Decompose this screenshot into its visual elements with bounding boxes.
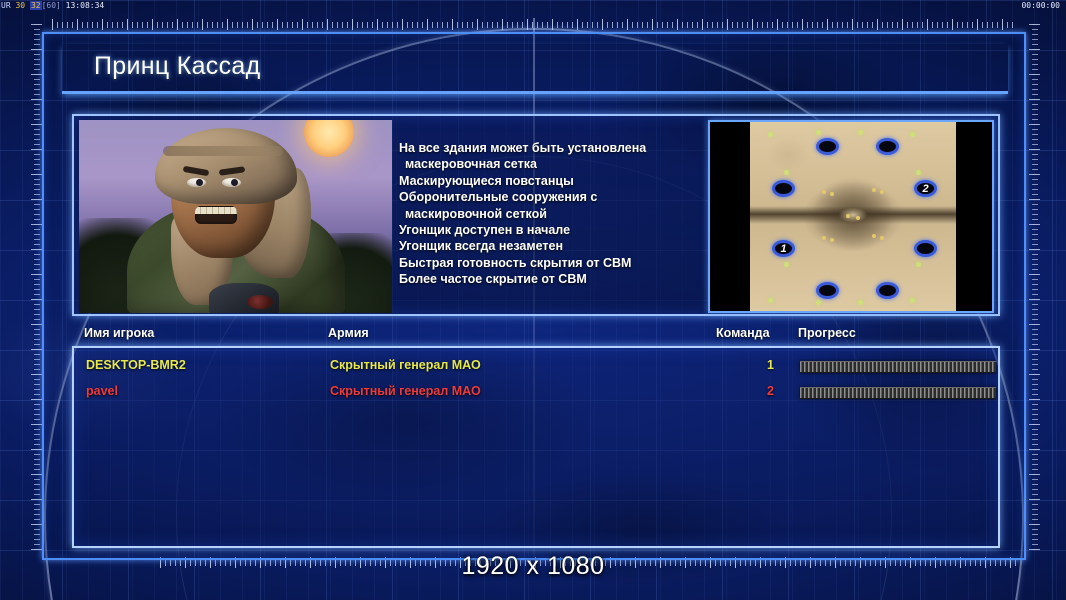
minimap-start-position-label: 1	[775, 243, 792, 254]
portrait-eye-right	[222, 178, 241, 187]
sun-icon	[304, 120, 354, 157]
cell-player-name: pavel	[86, 384, 118, 398]
hud-timer: 00:00:00	[1021, 0, 1060, 12]
minimap-supply-marker	[784, 170, 789, 175]
progress-bar	[800, 387, 996, 399]
portrait-weapon	[209, 283, 279, 313]
description-line: маскировочной сеткой	[399, 206, 709, 222]
minimap-start-position	[876, 138, 899, 155]
player-list-panel: DESKTOP-BMR2Скрытный генерал МАО1pavelСк…	[72, 346, 1000, 548]
cell-team: 1	[738, 358, 774, 372]
game-loading-screen: UR 30 32[60] 13:08:34 00:00:00 Принц Кас…	[0, 0, 1066, 600]
minimap-start-position	[772, 180, 795, 197]
page-title: Принц Кассад	[94, 52, 260, 81]
minimap-supply-marker	[910, 132, 915, 137]
minimap-oil-marker	[830, 192, 834, 196]
minimap-supply-marker	[858, 300, 863, 305]
cell-progress	[800, 384, 996, 396]
cell-army: Скрытный генерал МАО	[330, 384, 481, 398]
ruler-top	[52, 18, 1014, 32]
title-bar: Принц Кассад	[62, 44, 1008, 94]
minimap-supply-marker	[916, 170, 921, 175]
portrait-eye-left	[187, 178, 206, 187]
hud-status-text: UR 30 32[60] 13:08:34	[1, 0, 104, 12]
minimap-supply-marker	[816, 130, 821, 135]
cell-player-name: DESKTOP-BMR2	[86, 358, 186, 372]
progress-bar	[800, 361, 996, 373]
description-line: На все здания может быть установлена	[399, 140, 709, 156]
portrait-mouth	[195, 206, 237, 224]
table-row: pavelСкрытный генерал МАО2	[74, 384, 998, 406]
minimap-oil-marker	[880, 236, 884, 240]
hud-value-bracket: [60]	[42, 1, 61, 10]
minimap-oil-marker	[856, 216, 860, 220]
general-info-panel: На все здания может быть установленамаск…	[72, 114, 1000, 316]
description-line: маскеровочная сетка	[399, 156, 709, 172]
minimap-oil-marker	[846, 214, 850, 218]
minimap-start-position: 2	[914, 180, 937, 197]
general-description: На все здания может быть установленамаск…	[399, 140, 709, 288]
minimap-supply-marker	[784, 262, 789, 267]
minimap-oil-marker	[822, 236, 826, 240]
minimap-start-position-label: 2	[917, 183, 934, 194]
column-header-army: Армия	[328, 326, 369, 340]
description-line: Более частое скрытие от СВМ	[399, 271, 709, 287]
minimap-supply-marker	[858, 130, 863, 135]
resolution-overlay: 1920 x 1080	[0, 552, 1066, 581]
column-header-progress: Прогресс	[798, 326, 856, 340]
description-line: Быстрая готовность скрытия от СВМ	[399, 255, 709, 271]
table-column-headers: Имя игрока Армия Команда Прогресс	[72, 326, 1000, 348]
minimap-image: 21	[750, 122, 956, 311]
minimap-panel: 21	[708, 120, 994, 313]
hud-clock: 13:08:34	[66, 1, 105, 10]
minimap-oil-marker	[822, 190, 826, 194]
description-line: Угонщик доступен в начале	[399, 222, 709, 238]
minimap-supply-marker	[816, 300, 821, 305]
minimap-supply-marker	[910, 298, 915, 303]
minimap-oil-marker	[830, 238, 834, 242]
description-line: Маскирующиеся повстанцы	[399, 173, 709, 189]
minimap-oil-marker	[880, 190, 884, 194]
minimap-supply-marker	[916, 262, 921, 267]
minimap-start-position	[914, 240, 937, 257]
hud-value-fps: 30	[15, 1, 25, 10]
minimap-supply-marker	[768, 298, 773, 303]
minimap-oil-marker	[872, 234, 876, 238]
hud-top-bar: UR 30 32[60] 13:08:34 00:00:00	[0, 0, 1066, 12]
minimap-supply-marker	[768, 132, 773, 137]
main-frame: Принц Кассад На все здания может быт	[42, 32, 1026, 560]
minimap-start-position: 1	[772, 240, 795, 257]
cell-team: 2	[738, 384, 774, 398]
ruler-right	[1028, 24, 1042, 554]
description-line: Оборонительные сооружения с	[399, 189, 709, 205]
general-portrait	[79, 120, 392, 313]
column-header-player: Имя игрока	[84, 326, 154, 340]
cell-army: Скрытный генерал МАО	[330, 358, 481, 372]
column-header-team: Команда	[716, 326, 770, 340]
minimap-start-position	[816, 282, 839, 299]
minimap-start-position	[816, 138, 839, 155]
hud-value-ping: 32	[30, 1, 42, 10]
portrait-turban	[155, 128, 297, 204]
minimap-river	[750, 206, 956, 224]
hud-label-ur: UR	[1, 1, 11, 10]
table-row: DESKTOP-BMR2Скрытный генерал МАО1	[74, 358, 998, 380]
description-line: Угонщик всегда незаметен	[399, 238, 709, 254]
minimap-start-position	[876, 282, 899, 299]
minimap-oil-marker	[872, 188, 876, 192]
cell-progress	[800, 358, 996, 370]
